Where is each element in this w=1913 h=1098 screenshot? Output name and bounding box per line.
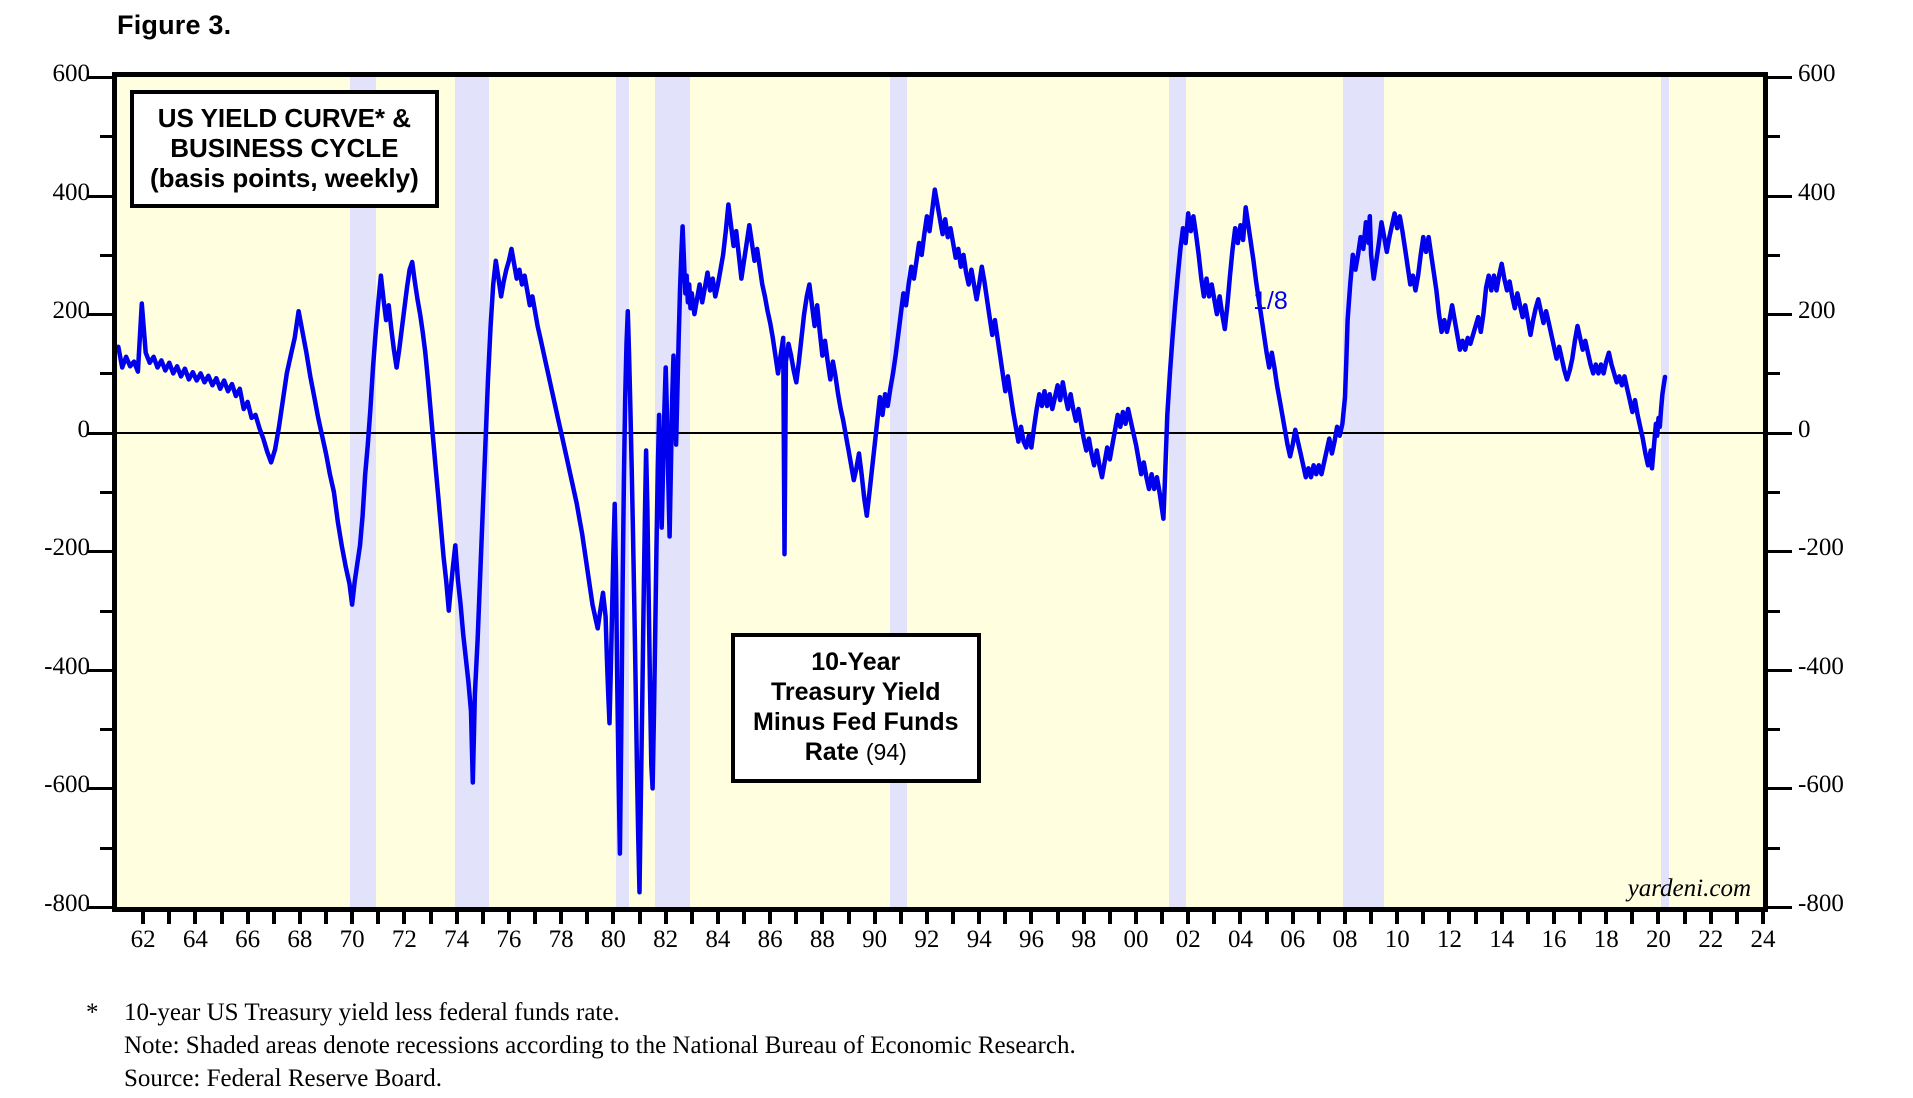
x-axis-label: 88	[792, 926, 852, 954]
y-axis-label-left: -400	[0, 653, 90, 681]
y-major-tick-right	[1766, 906, 1792, 909]
x-axis-tick	[664, 912, 668, 924]
x-axis-tick	[1265, 912, 1269, 924]
y-major-tick-left	[88, 787, 114, 790]
x-axis-tick	[141, 912, 145, 924]
y-major-tick-right	[1766, 76, 1792, 79]
y-minor-tick-left	[100, 254, 114, 257]
x-axis-tick	[1212, 912, 1216, 924]
x-axis-tick	[1238, 912, 1242, 924]
y-minor-tick-left	[100, 728, 114, 731]
footnote-marker: *	[86, 996, 99, 1029]
x-axis-tick	[1761, 912, 1765, 924]
x-axis-tick	[1604, 912, 1608, 924]
series-path	[118, 190, 1665, 893]
x-axis-tick	[1029, 912, 1033, 924]
x-axis-tick	[847, 912, 851, 924]
x-axis-tick	[1056, 912, 1060, 924]
x-axis-tick	[873, 912, 877, 924]
x-axis-label: 64	[165, 926, 225, 954]
x-axis-tick	[1108, 912, 1112, 924]
x-axis-tick	[1552, 912, 1556, 924]
footnotes: * 10-year US Treasury yield less federal…	[86, 996, 1076, 1095]
y-minor-tick-right	[1766, 135, 1780, 138]
y-minor-tick-left	[100, 847, 114, 850]
x-axis-tick	[1421, 912, 1425, 924]
x-axis-tick	[638, 912, 642, 924]
legend-line2: Treasury Yield	[753, 677, 959, 707]
x-axis-tick	[1003, 912, 1007, 924]
x-axis-tick	[455, 912, 459, 924]
y-major-tick-right	[1766, 550, 1792, 553]
x-axis-tick	[298, 912, 302, 924]
x-axis-label: 14	[1472, 926, 1532, 954]
x-axis-tick	[820, 912, 824, 924]
chart-title-line1: US YIELD CURVE* &	[150, 103, 419, 133]
x-axis-tick	[1160, 912, 1164, 924]
x-axis-tick	[1395, 912, 1399, 924]
x-axis-label: 72	[374, 926, 434, 954]
x-axis-tick	[1082, 912, 1086, 924]
x-axis-tick	[220, 912, 224, 924]
y-axis-label-right: -600	[1798, 771, 1888, 799]
y-axis-label-left: 200	[0, 297, 90, 325]
y-axis-label-right: 200	[1798, 297, 1888, 325]
x-axis-tick	[611, 912, 615, 924]
x-axis-tick	[1474, 912, 1478, 924]
y-axis-label-right: 0	[1798, 416, 1888, 444]
y-major-tick-right	[1766, 432, 1792, 435]
x-axis-tick	[1369, 912, 1373, 924]
x-axis-tick	[585, 912, 589, 924]
x-axis-tick	[951, 912, 955, 924]
x-axis-tick	[1317, 912, 1321, 924]
watermark: yardeni.com	[1628, 875, 1751, 903]
y-major-tick-left	[88, 669, 114, 672]
x-axis-tick	[272, 912, 276, 924]
x-axis-tick	[193, 912, 197, 924]
x-axis-tick	[533, 912, 537, 924]
x-axis-label: 10	[1367, 926, 1427, 954]
x-axis-tick	[1683, 912, 1687, 924]
x-axis-tick	[481, 912, 485, 924]
x-axis-tick	[1735, 912, 1739, 924]
x-axis-label: 74	[427, 926, 487, 954]
y-major-tick-left	[88, 906, 114, 909]
x-axis-tick	[507, 912, 511, 924]
x-axis-label: 70	[322, 926, 382, 954]
y-major-tick-left	[88, 76, 114, 79]
y-axis-label-left: -200	[0, 534, 90, 562]
x-axis-tick	[716, 912, 720, 924]
x-axis-label: 98	[1054, 926, 1114, 954]
x-axis-tick	[1709, 912, 1713, 924]
x-axis-tick	[167, 912, 171, 924]
legend-line1: 10-Year	[753, 647, 959, 677]
legend-line4: Rate (94)	[753, 737, 959, 767]
x-axis-label: 96	[1001, 926, 1061, 954]
legend-line3: Minus Fed Funds	[753, 707, 959, 737]
y-minor-tick-left	[100, 610, 114, 613]
x-axis-label: 76	[479, 926, 539, 954]
x-axis-label: 82	[636, 926, 696, 954]
x-axis-label: 66	[218, 926, 278, 954]
x-axis-tick	[1526, 912, 1530, 924]
y-minor-tick-left	[100, 491, 114, 494]
chart-title-line3: (basis points, weekly)	[150, 163, 419, 193]
y-axis-label-left: 0	[0, 416, 90, 444]
x-axis-tick	[350, 912, 354, 924]
chart-plot-area: US YIELD CURVE* & BUSINESS CYCLE (basis …	[112, 72, 1768, 912]
x-axis-tick	[925, 912, 929, 924]
y-axis-label-right: -800	[1798, 890, 1888, 918]
x-axis-label: 02	[1158, 926, 1218, 954]
y-major-tick-left	[88, 195, 114, 198]
y-minor-tick-right	[1766, 491, 1780, 494]
x-axis-label: 20	[1628, 926, 1688, 954]
chart-title-box: US YIELD CURVE* & BUSINESS CYCLE (basis …	[130, 90, 439, 208]
y-minor-tick-left	[100, 372, 114, 375]
x-axis-tick	[324, 912, 328, 924]
x-axis-label: 22	[1681, 926, 1741, 954]
x-axis-tick	[690, 912, 694, 924]
y-major-tick-right	[1766, 313, 1792, 316]
y-major-tick-left	[88, 550, 114, 553]
x-axis-label: 84	[688, 926, 748, 954]
x-axis-tick	[402, 912, 406, 924]
x-axis-tick	[1630, 912, 1634, 924]
y-major-tick-right	[1766, 787, 1792, 790]
x-axis-tick	[1447, 912, 1451, 924]
x-axis-tick	[1343, 912, 1347, 924]
footnote-line-1: 10-year US Treasury yield less federal f…	[124, 996, 1076, 1029]
x-axis-tick	[899, 912, 903, 924]
chart-title-line2: BUSINESS CYCLE	[150, 133, 419, 163]
y-minor-tick-right	[1766, 728, 1780, 731]
x-axis-tick	[1578, 912, 1582, 924]
y-minor-tick-right	[1766, 372, 1780, 375]
figure-label: Figure 3.	[117, 10, 231, 41]
x-axis-label: 00	[1106, 926, 1166, 954]
y-axis-label-left: 600	[0, 60, 90, 88]
y-major-tick-left	[88, 432, 114, 435]
x-axis-label: 18	[1576, 926, 1636, 954]
legend-series-count: (94)	[866, 739, 907, 765]
x-axis-tick	[1500, 912, 1504, 924]
y-axis-label-left: -600	[0, 771, 90, 799]
x-axis-tick	[768, 912, 772, 924]
x-axis-label: 68	[270, 926, 330, 954]
y-minor-tick-right	[1766, 847, 1780, 850]
x-axis-label: 06	[1263, 926, 1323, 954]
x-axis-tick	[559, 912, 563, 924]
footnote-line-2: Note: Shaded areas denote recessions acc…	[124, 1029, 1076, 1062]
x-axis-tick	[1134, 912, 1138, 924]
y-axis-label-right: -400	[1798, 653, 1888, 681]
y-minor-tick-right	[1766, 610, 1780, 613]
x-axis-label: 16	[1524, 926, 1584, 954]
x-axis-label: 08	[1315, 926, 1375, 954]
legend-line4-text: Rate	[805, 738, 859, 766]
x-axis-tick	[376, 912, 380, 924]
y-major-tick-right	[1766, 195, 1792, 198]
x-axis-label: 12	[1419, 926, 1479, 954]
footnote-line-3: Source: Federal Reserve Board.	[124, 1062, 1076, 1095]
chart-legend-box: 10-Year Treasury Yield Minus Fed Funds R…	[731, 633, 981, 783]
y-minor-tick-left	[100, 135, 114, 138]
x-axis-label: 78	[531, 926, 591, 954]
x-axis-tick	[977, 912, 981, 924]
x-axis-label: 86	[740, 926, 800, 954]
x-axis-label: 62	[113, 926, 173, 954]
x-axis-label: 04	[1210, 926, 1270, 954]
x-axis-label: 94	[949, 926, 1009, 954]
x-axis-tick	[1186, 912, 1190, 924]
y-major-tick-right	[1766, 669, 1792, 672]
last-value-annotation: 1/8	[1253, 287, 1288, 316]
y-axis-label-left: -800	[0, 890, 90, 918]
x-axis-tick	[246, 912, 250, 924]
x-axis-label: 80	[583, 926, 643, 954]
y-axis-label-right: 600	[1798, 60, 1888, 88]
x-axis-label: 92	[897, 926, 957, 954]
y-minor-tick-right	[1766, 254, 1780, 257]
y-major-tick-left	[88, 313, 114, 316]
x-axis-tick	[794, 912, 798, 924]
x-axis-tick	[429, 912, 433, 924]
y-axis-label-right: 400	[1798, 179, 1888, 207]
x-axis-tick	[1656, 912, 1660, 924]
x-axis-tick	[1291, 912, 1295, 924]
y-axis-label-right: -200	[1798, 534, 1888, 562]
x-axis-label: 24	[1733, 926, 1793, 954]
x-axis-label: 90	[845, 926, 905, 954]
x-axis-tick	[742, 912, 746, 924]
y-axis-label-left: 400	[0, 179, 90, 207]
